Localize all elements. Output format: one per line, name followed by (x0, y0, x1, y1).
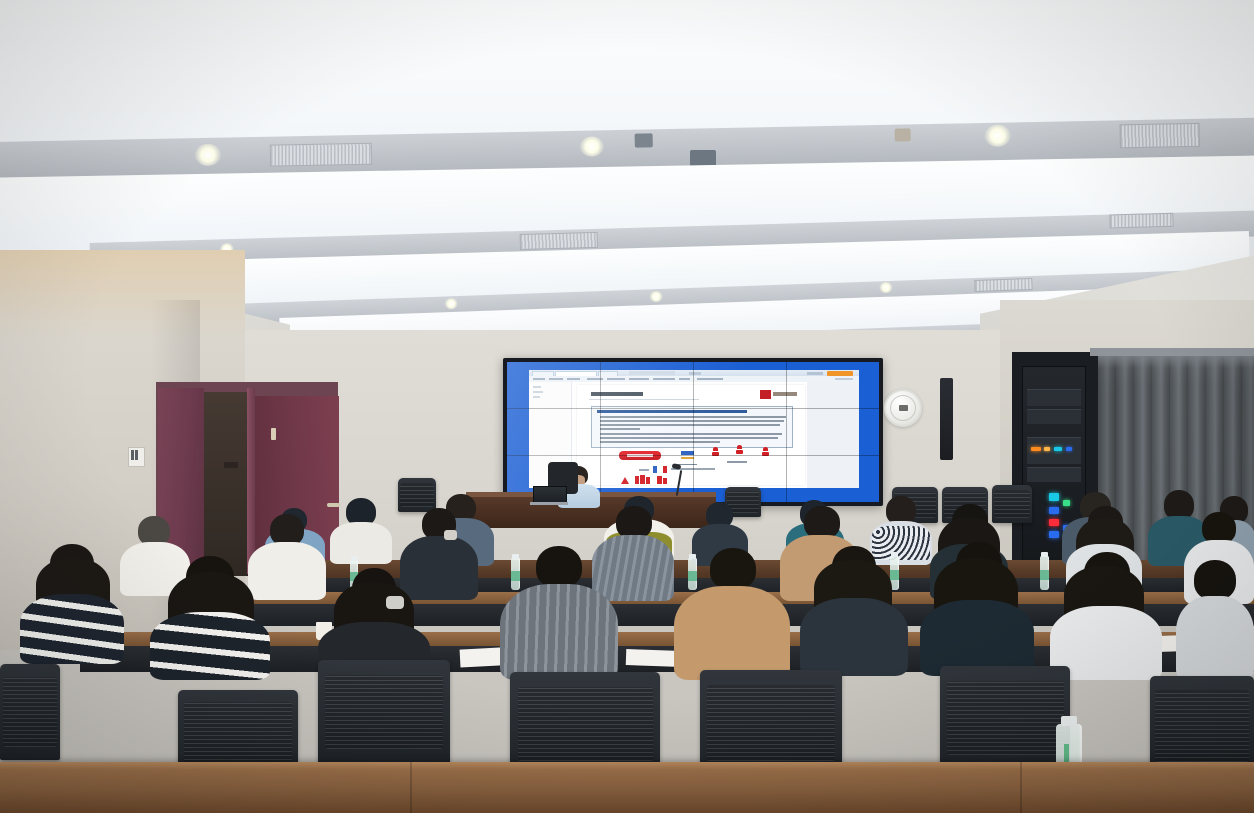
face-mask-icon (444, 530, 457, 540)
wall-speaker (940, 378, 953, 460)
status-led (1049, 507, 1059, 514)
downlight-icon (445, 298, 458, 309)
door-latch-icon (271, 428, 276, 440)
air-vent-icon (520, 232, 598, 250)
mesh-chair (510, 672, 660, 776)
air-vent-icon (1109, 213, 1173, 229)
attendee (150, 556, 270, 674)
bottle-cap-icon (1061, 716, 1077, 726)
mesh-chair (700, 670, 842, 776)
desk-seam (1020, 762, 1022, 813)
ceiling-sensor-icon (895, 128, 911, 141)
status-led (1049, 531, 1059, 538)
wall-clock (884, 389, 922, 427)
door-sign (224, 462, 238, 468)
attendee (330, 498, 392, 562)
left-wall-warm-light (0, 250, 245, 340)
rack-unit (1027, 409, 1081, 424)
foreground-desk-edge (0, 762, 1254, 770)
conference-room-photo (0, 0, 1254, 813)
ceiling-camera-icon (635, 133, 653, 147)
attendee (1176, 560, 1254, 678)
rack-unit (1027, 467, 1081, 482)
air-vent-icon (1119, 123, 1199, 149)
mesh-chair (318, 660, 450, 764)
attendee (920, 542, 1034, 674)
status-led (1066, 447, 1072, 451)
attendee (20, 544, 124, 660)
mesh-chair (1150, 676, 1254, 776)
downlight-icon (649, 291, 662, 302)
water-bottle (1040, 556, 1049, 590)
air-vent-icon (974, 278, 1032, 292)
door-opening (204, 392, 248, 576)
mesh-chair (0, 664, 60, 760)
rack-unit (1027, 389, 1081, 406)
downlight-icon (879, 282, 892, 293)
attendee (674, 548, 790, 678)
light-switch[interactable] (128, 447, 145, 467)
desk-seam (410, 762, 412, 813)
downlight-icon (580, 136, 604, 156)
status-led (1031, 447, 1041, 451)
attendee (500, 546, 618, 678)
status-led (1054, 447, 1062, 451)
downlight-icon (984, 124, 1010, 146)
attendee (1050, 552, 1162, 678)
presenter-laptop-base (530, 502, 568, 505)
mesh-chair (940, 666, 1070, 770)
status-led (1049, 519, 1059, 526)
rack-unit (1027, 437, 1081, 464)
status-led (1044, 447, 1050, 451)
status-led (1049, 493, 1059, 501)
curtain-rail (1090, 348, 1254, 356)
attendee (800, 546, 908, 674)
face-mask-icon (386, 596, 404, 609)
downlight-icon (195, 144, 221, 166)
air-vent-icon (270, 143, 372, 167)
